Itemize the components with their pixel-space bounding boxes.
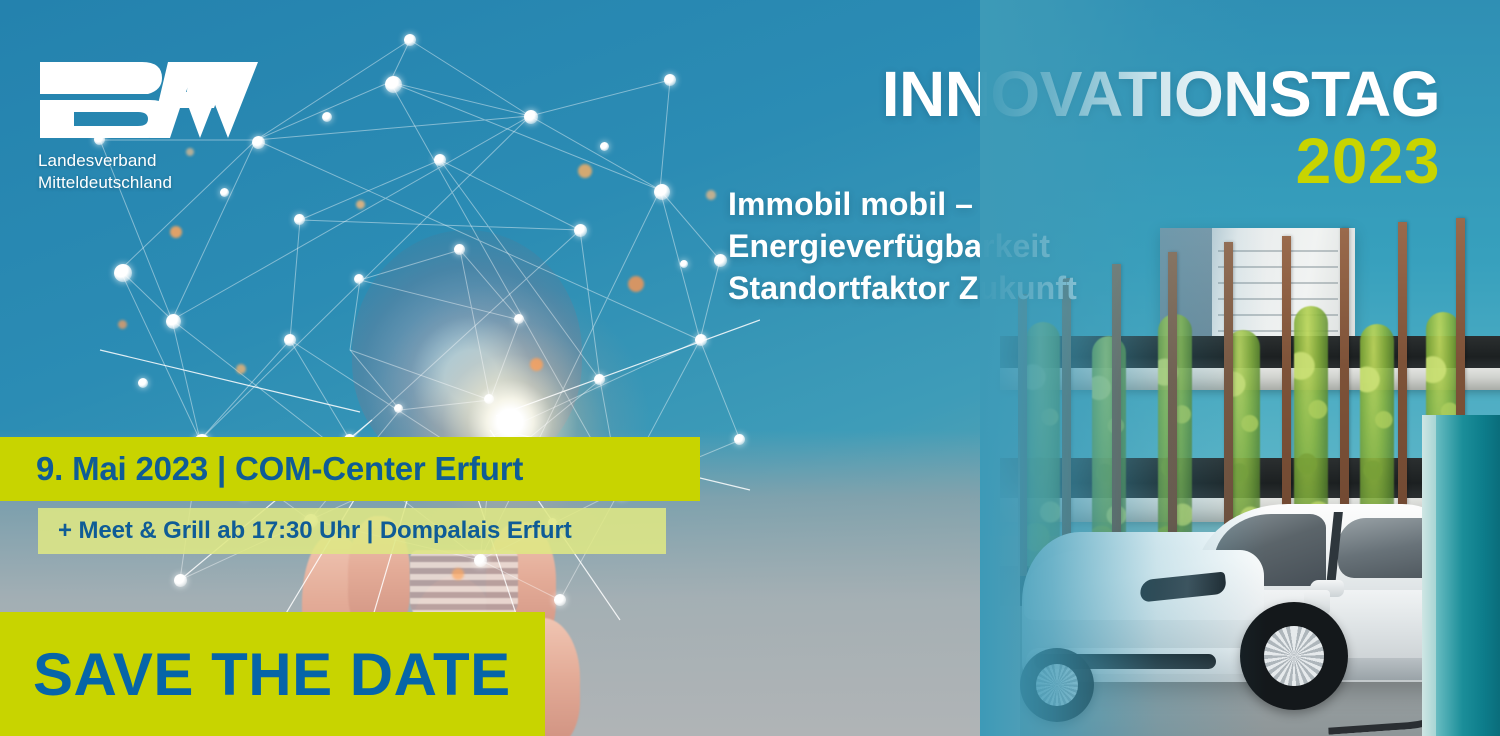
photo-left-fade <box>980 0 1500 736</box>
date-location-text: 9. Mai 2023 | COM-Center Erfurt <box>36 450 523 488</box>
logo-subtitle-line1: Landesverband <box>38 150 268 172</box>
parking-garage-photo <box>980 0 1500 736</box>
innovationstag-banner: Landesverband Mitteldeutschland INNOVATI… <box>0 0 1500 736</box>
save-the-date-bar: SAVE THE DATE <box>0 612 545 736</box>
meet-grill-bar: + Meet & Grill ab 17:30 Uhr | Dompalais … <box>38 508 666 554</box>
save-the-date-text: SAVE THE DATE <box>33 640 511 709</box>
meet-grill-text: + Meet & Grill ab 17:30 Uhr | Dompalais … <box>58 517 572 545</box>
logo-subtitle-line2: Mitteldeutschland <box>38 172 268 194</box>
bfw-logo-mark <box>38 60 260 140</box>
date-location-bar: 9. Mai 2023 | COM-Center Erfurt <box>0 437 700 501</box>
bfw-logo[interactable]: Landesverband Mitteldeutschland <box>38 60 268 194</box>
logo-subtitle: Landesverband Mitteldeutschland <box>38 150 268 194</box>
